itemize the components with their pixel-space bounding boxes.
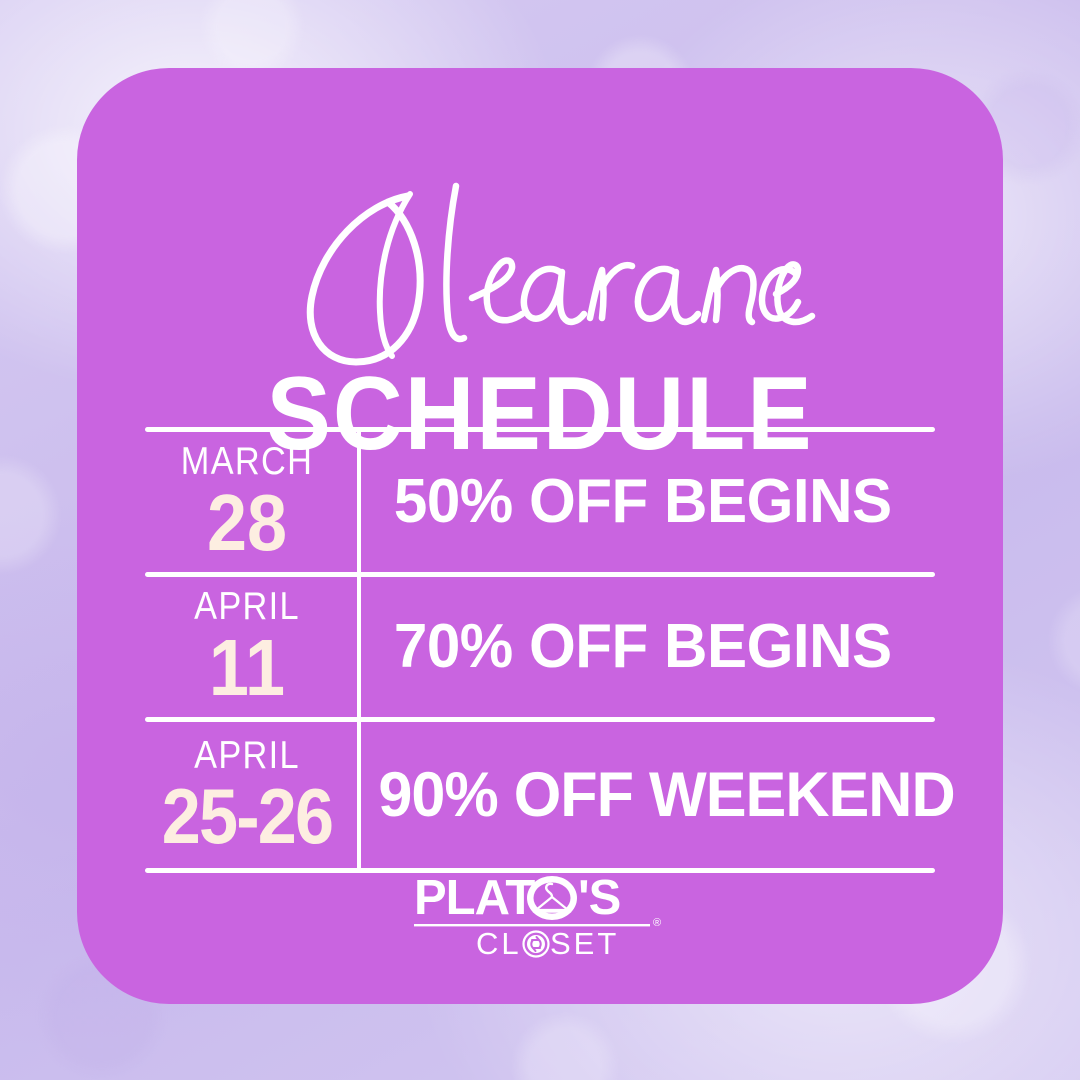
brand-top-text: PLAT <box>414 871 535 925</box>
table-row: APRIL 11 70% OFF BEGINS <box>145 577 935 717</box>
offer-label: 70% OFF BEGINS <box>357 616 918 678</box>
day-label: 11 <box>155 628 339 708</box>
day-label: 28 <box>155 483 339 563</box>
purple-card: SCHEDULE MARCH 28 50% OFF BEGINS APRIL 1… <box>77 68 1003 1004</box>
clothes-hanger-icon <box>527 876 577 920</box>
brand-top-suffix: 'S <box>578 871 620 925</box>
clearance-schedule-poster: SCHEDULE MARCH 28 50% OFF BEGINS APRIL 1… <box>0 0 1080 1080</box>
offer-label: 50% OFF BEGINS <box>357 471 918 533</box>
title-script-clearance <box>77 176 1003 376</box>
brand-bottom-text-post: SET <box>550 926 619 961</box>
brand-bottom-text-pre: CL <box>476 926 522 961</box>
platos-closet-logo: PLAT 'S ® <box>77 870 1003 962</box>
month-label: MARCH <box>157 442 337 481</box>
date-cell: APRIL 25-26 <box>145 736 357 855</box>
table-row: MARCH 28 50% OFF BEGINS <box>145 432 935 572</box>
offer-label: 90% OFF WEEKEND <box>357 764 955 827</box>
registered-mark: ® <box>653 917 661 929</box>
month-label: APRIL <box>157 587 337 626</box>
recycle-swap-icon <box>524 932 549 957</box>
table-row: APRIL 25-26 90% OFF WEEKEND <box>145 722 935 868</box>
month-label: APRIL <box>157 736 337 775</box>
day-label: 25-26 <box>155 777 339 855</box>
date-cell: APRIL 11 <box>145 587 357 708</box>
schedule-table: MARCH 28 50% OFF BEGINS APRIL 11 70% OFF… <box>145 427 935 873</box>
date-cell: MARCH 28 <box>145 442 357 563</box>
